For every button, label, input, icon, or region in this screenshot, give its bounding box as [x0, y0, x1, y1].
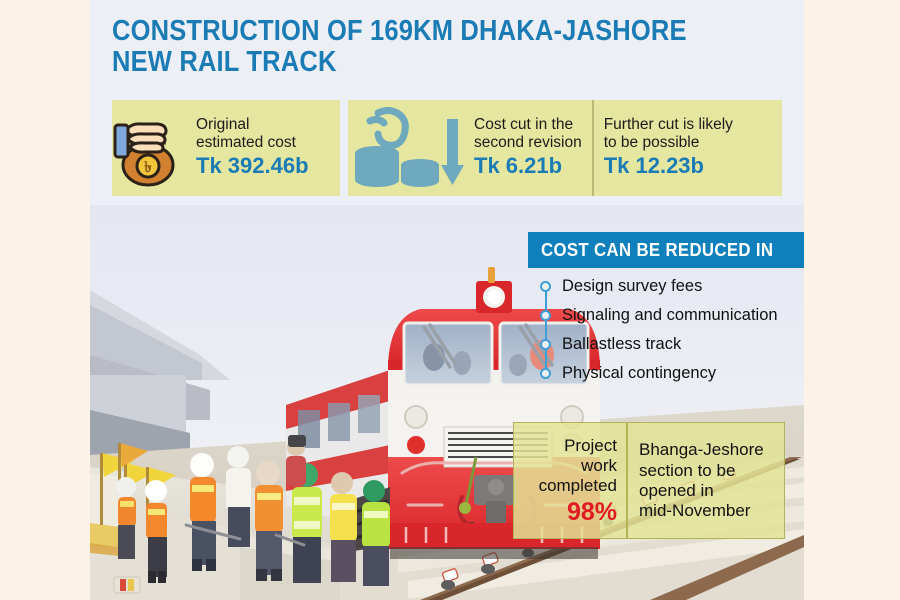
page-title-line1: Construction of 169km Dhaka-Jashore: [112, 15, 687, 47]
infographic-stage: Construction of 169km Dhaka-Jashore new …: [0, 0, 900, 600]
bullet-circle-icon: [540, 281, 551, 292]
cost-reduction-list: Design survey fees Signaling and communi…: [538, 272, 804, 388]
bullet-circle-icon: [540, 368, 551, 379]
page-title: Construction of 169km Dhaka-Jashore new …: [112, 16, 693, 79]
progress-label-line1: Project: [564, 436, 617, 456]
list-item-label: Signaling and communication: [562, 306, 778, 325]
progress-label-line3: completed: [539, 476, 617, 496]
stat-second-revision-cell: Cost cut in the second revision Tk 6.21b: [464, 100, 592, 196]
schedule-line1: Bhanga-Jeshore: [639, 440, 778, 460]
svg-text:৳: ৳: [144, 160, 152, 176]
progress-percent-value: 98%: [567, 498, 617, 527]
project-status-box: Project work completed 98% Bhanga-Jeshor…: [513, 422, 785, 539]
list-item-label: Physical contingency: [562, 364, 716, 383]
page-title-line2: new rail track: [112, 47, 693, 78]
stat-value: Tk 12.23b: [604, 153, 733, 179]
schedule-line3: opened in: [639, 481, 778, 501]
list-item-label: Design survey fees: [562, 277, 702, 296]
stat-original-cost-cell: Original estimated cost Tk 392.46b: [186, 100, 319, 196]
stat-original-cost: ৳ Original estimated cost Tk 392.46b: [112, 100, 340, 196]
stat-label-line1: Cost cut in the: [474, 116, 582, 134]
stat-cost-cuts: Cost cut in the second revision Tk 6.21b…: [348, 100, 782, 196]
list-item[interactable]: Ballastless track: [538, 330, 804, 359]
opening-schedule-cell: Bhanga-Jeshore section to be opened in m…: [626, 423, 784, 538]
cost-reduction-banner-title: Cost can be reduced in: [528, 232, 790, 268]
cost-reduction-banner: Cost can be reduced in: [528, 232, 804, 268]
stat-label-line1: Further cut is likely: [604, 116, 733, 134]
money-bag-hand-icon: ৳: [112, 109, 186, 187]
stat-value: Tk 6.21b: [474, 153, 582, 179]
list-item[interactable]: Signaling and communication: [538, 301, 804, 330]
stat-label-line2: to be possible: [604, 134, 733, 152]
schedule-line4: mid-November: [639, 501, 778, 521]
list-item-label: Ballastless track: [562, 335, 681, 354]
list-item[interactable]: Physical contingency: [538, 359, 804, 388]
coins-down-arrow-icon: [348, 105, 464, 191]
bullet-circle-icon: [540, 310, 551, 321]
stat-label-line2: second revision: [474, 134, 582, 152]
content-panel: Construction of 169km Dhaka-Jashore new …: [90, 0, 804, 600]
stat-further-cut-cell: Further cut is likely to be possible Tk …: [592, 100, 743, 196]
project-progress-cell: Project work completed 98%: [514, 423, 626, 538]
stat-value: Tk 392.46b: [196, 153, 309, 179]
bullet-circle-icon: [540, 339, 551, 350]
schedule-line2: section to be: [639, 461, 778, 481]
list-item[interactable]: Design survey fees: [538, 272, 804, 301]
progress-label-line2: work: [581, 456, 617, 476]
stat-label-line2: estimated cost: [196, 134, 309, 152]
stat-label-line1: Original: [196, 116, 309, 134]
